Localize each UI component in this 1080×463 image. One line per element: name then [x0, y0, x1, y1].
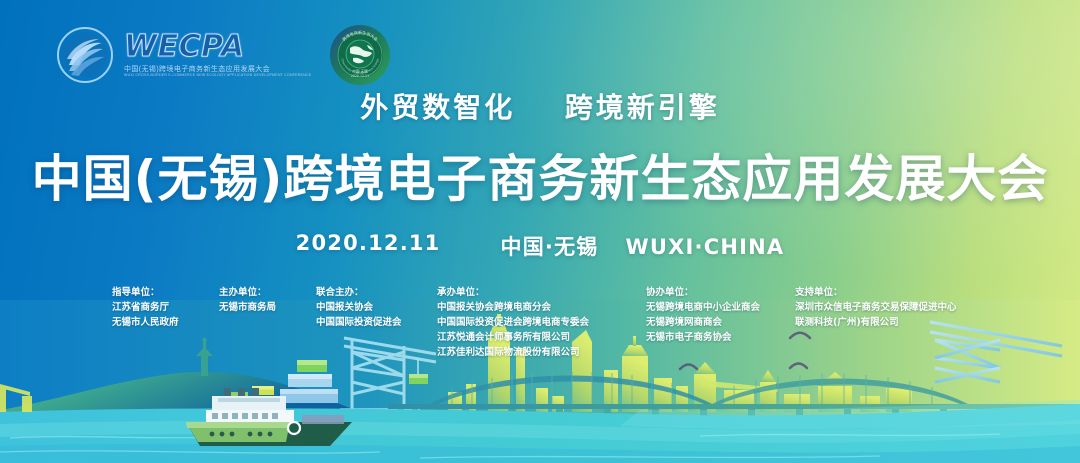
sponsor-category-label: 联合主办： [316, 285, 402, 300]
tagline-right: 跨境新引擎 [565, 91, 720, 124]
sponsor-category-label: 承办单位： [437, 285, 589, 300]
wecpa-logo[interactable]: WECPA 中国(无锡)跨境电子商务新生态应用发展大会 WUXI CROSS-B… [55, 25, 311, 85]
sponsor-name: 无锡市商务局 [219, 300, 276, 315]
headline-block: 外贸数智化 跨境新引擎 中国(无锡)跨境电子商务新生态应用发展大会 2020.1… [0, 86, 1080, 261]
emblem-center-line2: 2020.12.11 [351, 74, 369, 78]
emblem-center-line1: 中国·无锡 [353, 69, 369, 74]
sponsor-name: 无锡跨境网商商会 [646, 315, 760, 330]
sponsor-name: 深圳市众信电子商务交易保障促进中心 [795, 300, 957, 315]
sponsor-name: 无锡市人民政府 [112, 315, 179, 330]
event-date: 2020.12.11 [296, 231, 441, 261]
wecpa-chinese-subtitle: 中国(无锡)跨境电子商务新生态应用发展大会 [124, 65, 311, 74]
sponsor-category-label: 支持单位： [795, 285, 957, 300]
wecpa-wave-mark-icon [55, 25, 115, 85]
sponsor-name: 中国报关协会跨境电商分会 [437, 300, 589, 315]
sponsor-category-label: 指导单位： [112, 285, 179, 300]
sponsor-column: 支持单位：深圳市众信电子商务交易保障促进中心联测科技(广州)有限公司 [795, 285, 957, 330]
sponsor-column: 主办单位：无锡市商务局 [219, 285, 276, 315]
sponsor-name: 联测科技(广州)有限公司 [795, 315, 957, 330]
logo-row: WECPA 中国(无锡)跨境电子商务新生态应用发展大会 WUXI CROSS-B… [55, 24, 391, 86]
sponsor-category-label: 主办单位： [219, 285, 276, 300]
sponsor-category-label: 协办单位： [646, 285, 760, 300]
sponsor-name: 江苏悦通会计师事务所有限公司 [437, 330, 589, 345]
sponsor-columns: 指导单位：江苏省商务厅无锡市人民政府主办单位：无锡市商务局联合主办：中国报关协会… [0, 285, 1080, 355]
event-location: 中国·无锡 WUXI·CHINA [501, 231, 785, 261]
sponsor-name: 江苏佳利达国际物流股份有限公司 [437, 345, 589, 360]
tagline-left: 外贸数智化 [360, 91, 515, 124]
event-location-cn: 中国·无锡 [501, 235, 599, 259]
sponsor-column: 协办单位：无锡跨境电商中小企业商会无锡跨境网商商会无锡市电子商务协会 [646, 285, 760, 345]
sponsor-name: 无锡市电子商务协会 [646, 330, 760, 345]
sponsor-name: 江苏省商务厅 [112, 300, 179, 315]
wecpa-english-subtitle: WUXI CROSS-BORDER E-COMMERCE NEW ECOLOGY… [124, 74, 311, 78]
sponsor-column: 承办单位：中国报关协会跨境电商分会中国国际投资促进会跨境电商专委会江苏悦通会计师… [437, 285, 589, 360]
sponsor-column: 联合主办：中国报关协会中国国际投资促进会 [316, 285, 402, 330]
sponsor-name: 无锡跨境电商中小企业商会 [646, 300, 760, 315]
conference-emblem[interactable]: 跨境电商新生态大会 Cross-border E-commerce New Ec… [329, 24, 391, 86]
globe-icon [346, 40, 374, 68]
event-meta: 2020.12.11 中国·无锡 WUXI·CHINA [0, 231, 1080, 261]
sponsor-name: 中国报关协会 [316, 300, 402, 315]
page-title: 中国(无锡)跨境电子商务新生态应用发展大会 [0, 139, 1080, 211]
sponsor-column: 指导单位：江苏省商务厅无锡市人民政府 [112, 285, 179, 330]
sponsor-name: 中国国际投资促进会 [316, 315, 402, 330]
tagline: 外贸数智化 跨境新引擎 [0, 86, 1080, 126]
sponsor-name: 中国国际投资促进会跨境电商专委会 [437, 315, 589, 330]
conference-banner: WECPA 中国(无锡)跨境电子商务新生态应用发展大会 WUXI CROSS-B… [0, 0, 1080, 463]
wecpa-wordmark: WECPA [124, 32, 311, 62]
event-location-en: WUXI·CHINA [626, 235, 785, 259]
